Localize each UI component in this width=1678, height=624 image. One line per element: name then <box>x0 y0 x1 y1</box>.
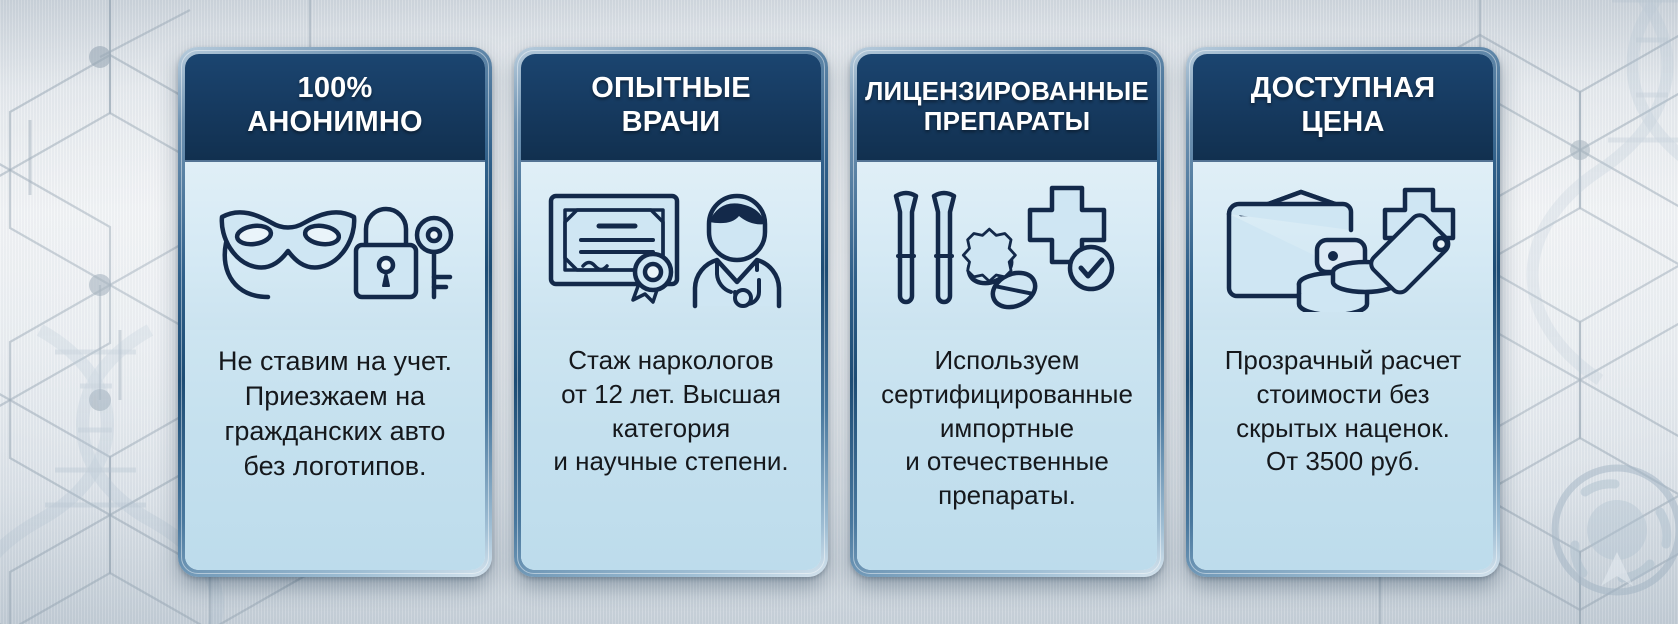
card-icon-group-price <box>1193 162 1493 330</box>
card-text: Не ставим на учет. Приезжаем на гражданс… <box>218 344 452 484</box>
card-body-anonymity: Не ставим на учет. Приезжаем на гражданс… <box>185 330 485 570</box>
benefit-card-anonymity[interactable]: 100% АНОНИМНО <box>178 47 492 577</box>
benefit-card-affordable-price[interactable]: ДОСТУПНАЯ ЦЕНА <box>1186 47 1500 577</box>
mask-icon <box>222 212 354 297</box>
card-header-anonymity: 100% АНОНИМНО <box>185 54 485 162</box>
card-body-licensed-drugs: Используем сертифицированные импортные и… <box>857 330 1157 570</box>
card-header-licensed-drugs: ЛИЦЕНЗИРОВАННЫЕ ПРЕПАРАТЫ <box>857 54 1157 162</box>
card-icon-group-anonymity <box>185 162 485 330</box>
card-icon-group-doctors <box>521 162 821 330</box>
card-title: 100% АНОНИМНО <box>247 72 423 139</box>
card-body-experienced-doctors: Стаж наркологов от 12 лет. Высшая катего… <box>521 330 821 570</box>
card-header-affordable-price: ДОСТУПНАЯ ЦЕНА <box>1193 54 1493 162</box>
card-title: ЛИЦЕНЗИРОВАННЫЕ ПРЕПАРАТЫ <box>865 76 1149 136</box>
key-icon <box>417 218 451 297</box>
card-title: ДОСТУПНАЯ ЦЕНА <box>1251 72 1436 139</box>
card-title: ОПЫТНЫЕ ВРАЧИ <box>591 72 751 139</box>
card-text: Стаж наркологов от 12 лет. Высшая катего… <box>553 344 788 479</box>
card-body-affordable-price: Прозрачный расчет стоимости без скрытых … <box>1193 330 1493 570</box>
benefits-card-row: 100% АНОНИМНО <box>0 0 1678 624</box>
certificate-icon <box>551 196 677 302</box>
benefit-card-licensed-drugs[interactable]: ЛИЦЕНЗИРОВАННЫЕ ПРЕПАРАТЫ <box>850 47 1164 577</box>
padlock-icon <box>356 209 416 297</box>
card-header-experienced-doctors: ОПЫТНЫЕ ВРАЧИ <box>521 54 821 162</box>
benefit-card-experienced-doctors[interactable]: ОПЫТНЫЕ ВРАЧИ <box>514 47 828 577</box>
ampoule-icon <box>896 193 954 302</box>
card-text: Прозрачный расчет стоимости без скрытых … <box>1225 344 1462 479</box>
card-text: Используем сертифицированные импортные и… <box>881 344 1133 513</box>
card-icon-group-drugs <box>857 162 1157 330</box>
doctor-icon <box>695 196 779 306</box>
